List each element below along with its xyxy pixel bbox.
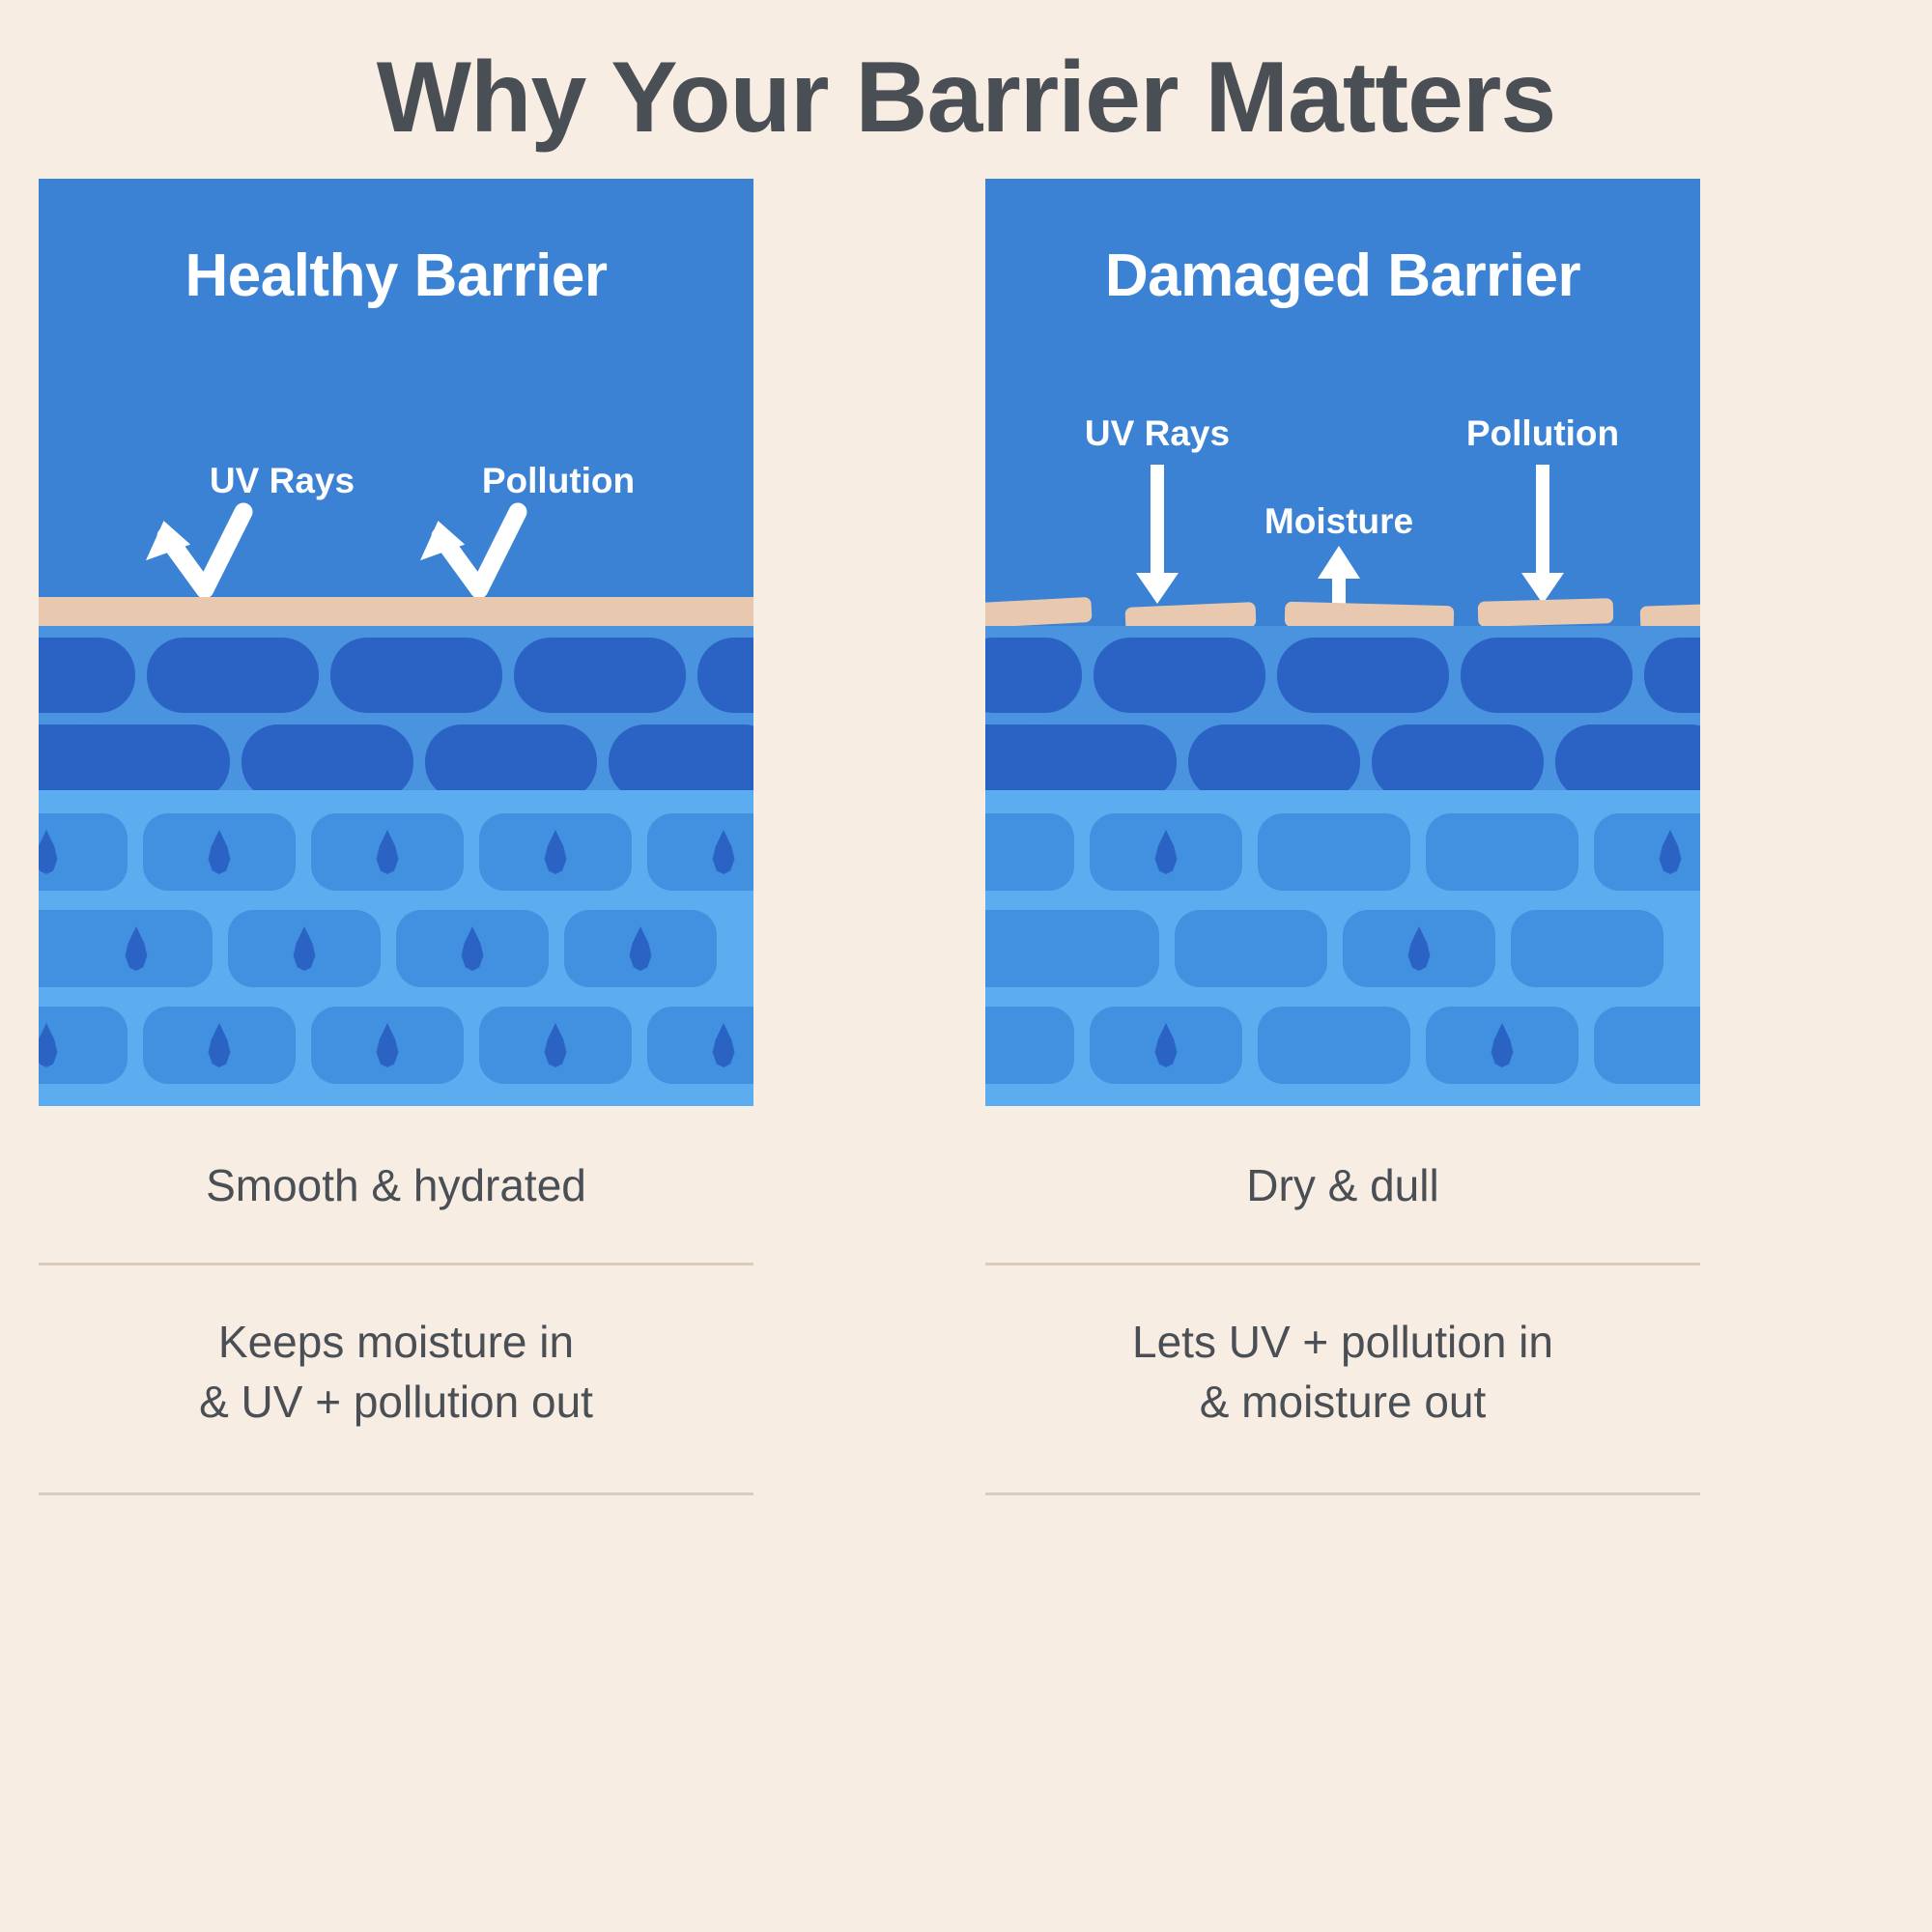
blurb-healthy: Keeps moisture in & UV + pollution out bbox=[39, 1312, 753, 1432]
epidermis-layer-damaged bbox=[985, 626, 1700, 790]
pollution-down-arrow-icon bbox=[1521, 465, 1564, 604]
blurb-healthy-line2: & UV + pollution out bbox=[39, 1372, 753, 1432]
uv-down-arrow-icon bbox=[1136, 465, 1179, 604]
divider-right-bottom bbox=[985, 1492, 1700, 1495]
divider-right-top bbox=[985, 1263, 1700, 1265]
page-title: Why Your Barrier Matters bbox=[0, 43, 1932, 153]
caption-healthy: Smooth & hydrated bbox=[39, 1159, 753, 1211]
uv-bounce-path bbox=[166, 512, 243, 589]
dermis-layer-healthy bbox=[39, 790, 753, 1106]
divider-left-bottom bbox=[39, 1492, 753, 1495]
panel-healthy-barrier: Healthy Barrier UV Rays Pollution bbox=[39, 179, 753, 1106]
dermis-layer-damaged bbox=[985, 790, 1700, 1106]
barrier-layer-intact bbox=[39, 597, 753, 626]
caption-damaged: Dry & dull bbox=[985, 1159, 1700, 1211]
infographic-root: Why Your Barrier Matters Healthy Barrier… bbox=[0, 0, 1932, 1932]
blurb-damaged-line1: Lets UV + pollution in bbox=[985, 1312, 1700, 1372]
epidermis-layer-healthy bbox=[39, 626, 753, 790]
divider-left-top bbox=[39, 1263, 753, 1265]
blurb-damaged-line2: & moisture out bbox=[985, 1372, 1700, 1432]
panel-damaged-barrier: Damaged Barrier UV Rays Moisture Polluti… bbox=[985, 179, 1700, 1106]
blurb-damaged: Lets UV + pollution in & moisture out bbox=[985, 1312, 1700, 1432]
blurb-healthy-line1: Keeps moisture in bbox=[39, 1312, 753, 1372]
pollution-bounce-path bbox=[440, 512, 518, 589]
